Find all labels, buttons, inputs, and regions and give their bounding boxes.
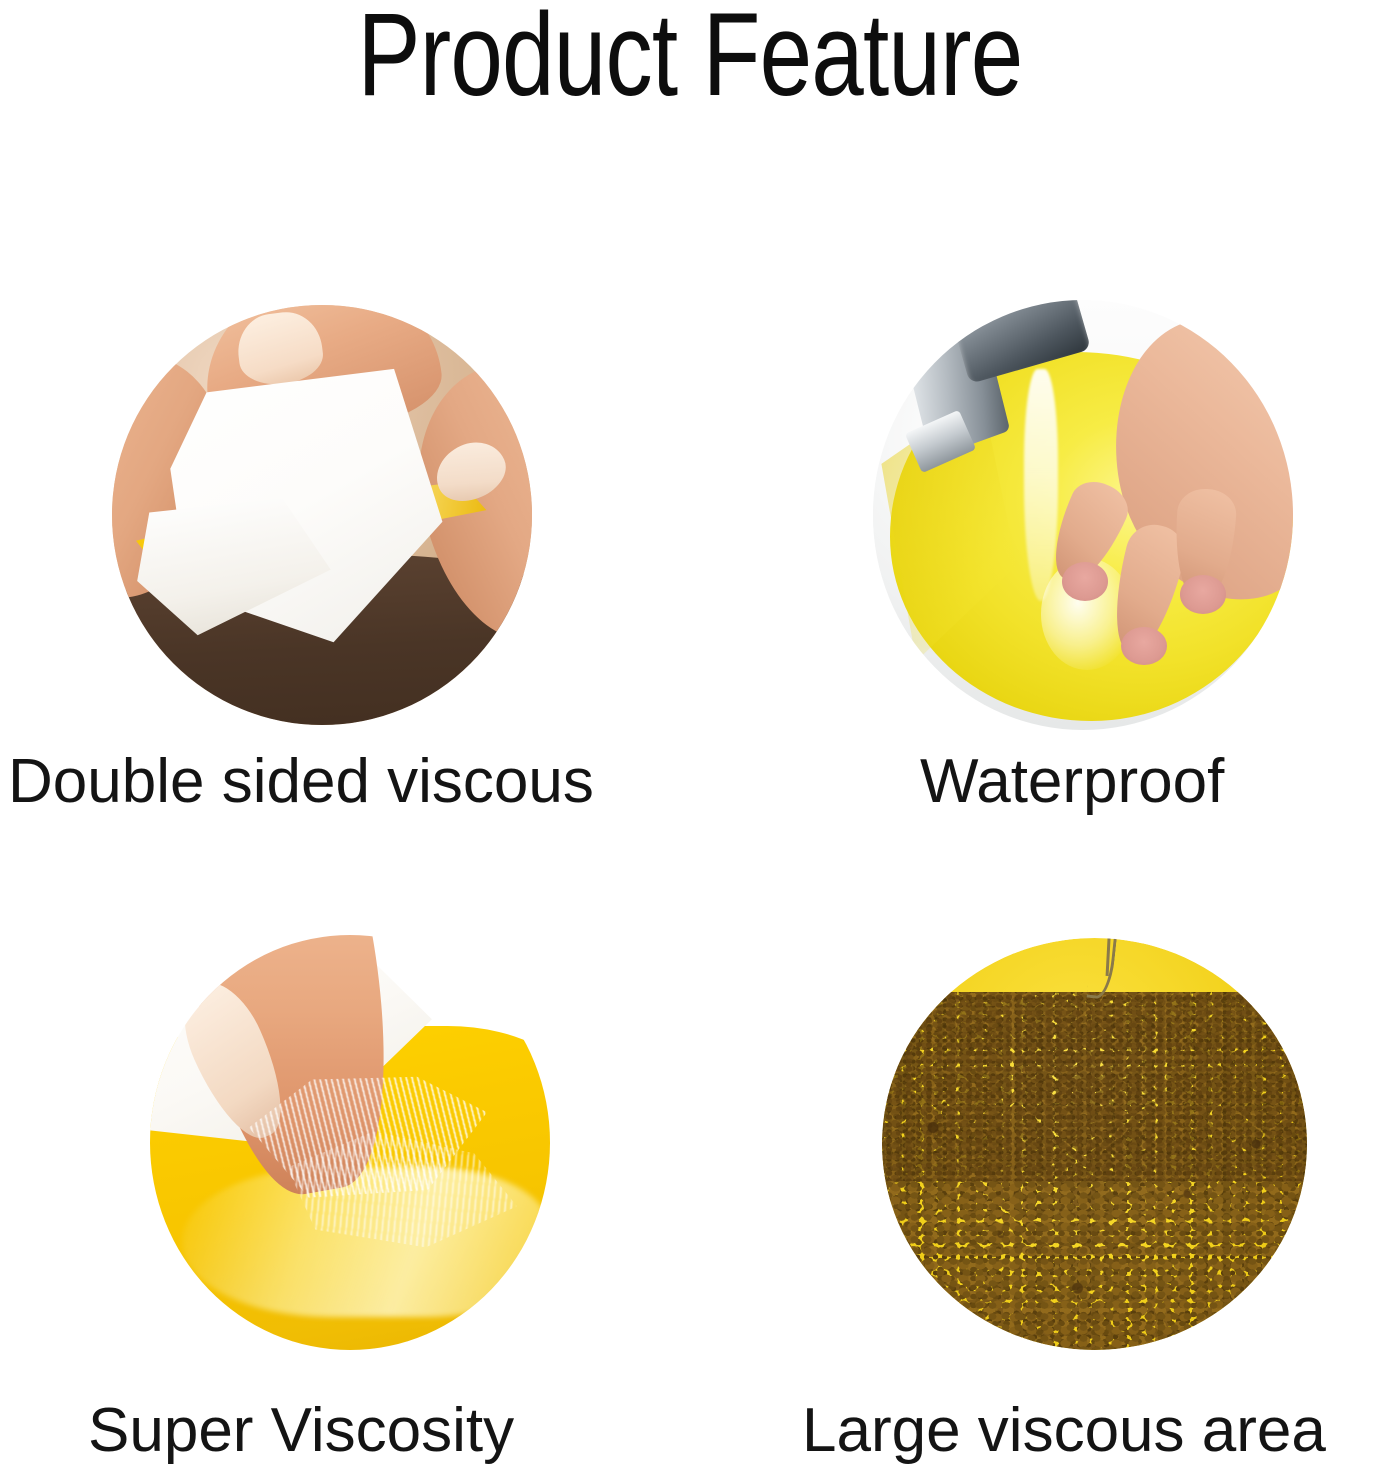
feature-label-double-sided-viscous: Double sided viscous	[8, 747, 594, 817]
feature-item-double-sided-viscous: Double sided viscous	[0, 285, 690, 845]
feature-item-large-viscous-area: Large viscous area	[690, 895, 1380, 1465]
feature-image-double-sided-viscous	[112, 305, 532, 725]
yellow-sticky-trap	[882, 938, 1307, 1350]
feature-item-super-viscosity: Super Viscosity	[0, 895, 690, 1465]
feature-image-waterproof	[873, 300, 1293, 730]
feature-image-super-viscosity	[150, 935, 550, 1350]
fingertip	[1062, 562, 1108, 601]
fingertip	[1180, 575, 1226, 614]
feature-label-super-viscosity: Super Viscosity	[88, 1396, 514, 1466]
fingertip	[1121, 627, 1167, 666]
feature-grid: Double sided viscous	[0, 0, 1380, 1465]
feature-image-large-viscous-area	[882, 938, 1307, 1350]
feature-item-waterproof: Waterproof	[690, 285, 1380, 845]
feature-label-waterproof: Waterproof	[920, 747, 1224, 817]
water-stream	[1024, 369, 1058, 601]
feature-label-large-viscous-area: Large viscous area	[802, 1396, 1326, 1466]
large-insects	[882, 938, 1307, 1350]
